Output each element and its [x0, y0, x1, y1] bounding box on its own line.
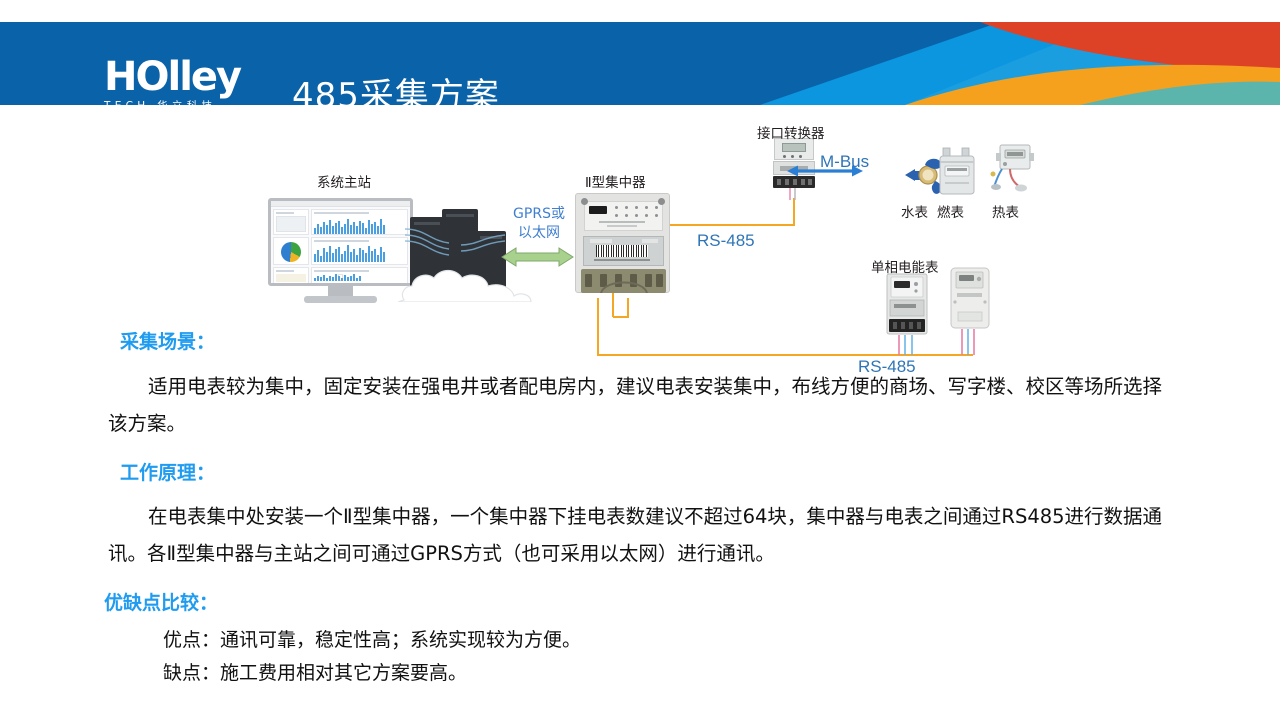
label-rs485-top: RS-485 [697, 231, 755, 251]
apple-logo-icon:  [337, 274, 344, 282]
bar-chart [314, 244, 405, 262]
page-title: 485采集方案 [292, 68, 500, 105]
barcode [596, 245, 648, 257]
holley-logo: HOlley TECH 华立科技 [104, 58, 274, 105]
heading-collection-scene: 采集场景： [120, 327, 215, 354]
gprs-bidirectional-arrow [500, 246, 575, 268]
concentrator-meter-window [583, 236, 664, 266]
label-gprs-ethernet: GPRS或 以太网 [505, 205, 573, 243]
label-single-phase-meter: 单相电能表 [871, 256, 939, 276]
architecture-diagram:  [0, 105, 1280, 365]
concentrator-terminal-block [581, 269, 666, 293]
text-pros: 优点：通讯可靠，稳定性高；系统实现较为方便。 [163, 624, 581, 657]
gas-meter-icon [938, 145, 976, 197]
label-gas-meter: 燃表 [937, 201, 964, 221]
concentrator-panel [584, 201, 663, 231]
dashboard-card [311, 267, 408, 285]
bar-chart [314, 274, 405, 281]
dashboard-card [273, 209, 309, 235]
dashboard-right-column [311, 209, 408, 286]
label-gprs-line2: 以太网 [505, 224, 573, 243]
paragraph-working-principle: 在电表集中处安装一个Ⅱ型集中器，一个集中器下挂电表数建议不超过64块，集中器与电… [108, 498, 1183, 572]
concentrator-display [589, 206, 607, 214]
page-header: HOlley TECH 华立科技 485采集方案 [0, 22, 1280, 105]
monitor-stand-neck [328, 286, 353, 296]
dashboard-left-column [273, 209, 309, 286]
monitor-stand-base [304, 296, 377, 303]
text-cons: 缺点：施工费用相对其它方案要高。 [163, 657, 467, 690]
single-phase-meter-1-icon [886, 273, 928, 335]
bar-chart [314, 216, 405, 234]
dashboard-card [273, 267, 309, 285]
label-water-meter: 水表 [901, 201, 928, 221]
heading-pros-cons: 优缺点比较： [104, 588, 218, 615]
label-heat-meter: 热表 [992, 201, 1019, 221]
converter-lcd [782, 143, 806, 152]
label-master-station: 系统主站 [317, 171, 371, 191]
label-mbus: M-Bus [820, 152, 869, 172]
label-concentrator: Ⅱ型集中器 [585, 171, 646, 191]
concentrator-housing [575, 193, 670, 293]
heat-meter-icon [988, 143, 1036, 197]
dashboard-bar-card [311, 209, 408, 235]
label-gprs-line1: GPRS或 [505, 205, 573, 224]
logo-wordmark: HOlley [104, 58, 274, 96]
label-interface-converter: 接口转换器 [757, 122, 825, 142]
logo-subtext: TECH 华立科技 [104, 98, 274, 105]
pie-chart [281, 242, 301, 262]
dashboard-bar-card [311, 237, 408, 265]
master-station-monitor:  [268, 198, 413, 306]
type-ii-concentrator-device [575, 193, 670, 311]
heading-working-principle: 工作原理： [120, 458, 215, 485]
dashboard-pie-card [273, 237, 309, 265]
paragraph-collection-scene: 适用电表较为集中，固定安装在强电井或者配电房内，建议电表安装集中，布线方便的商场… [108, 368, 1178, 442]
single-phase-meter-2-icon [950, 267, 990, 329]
